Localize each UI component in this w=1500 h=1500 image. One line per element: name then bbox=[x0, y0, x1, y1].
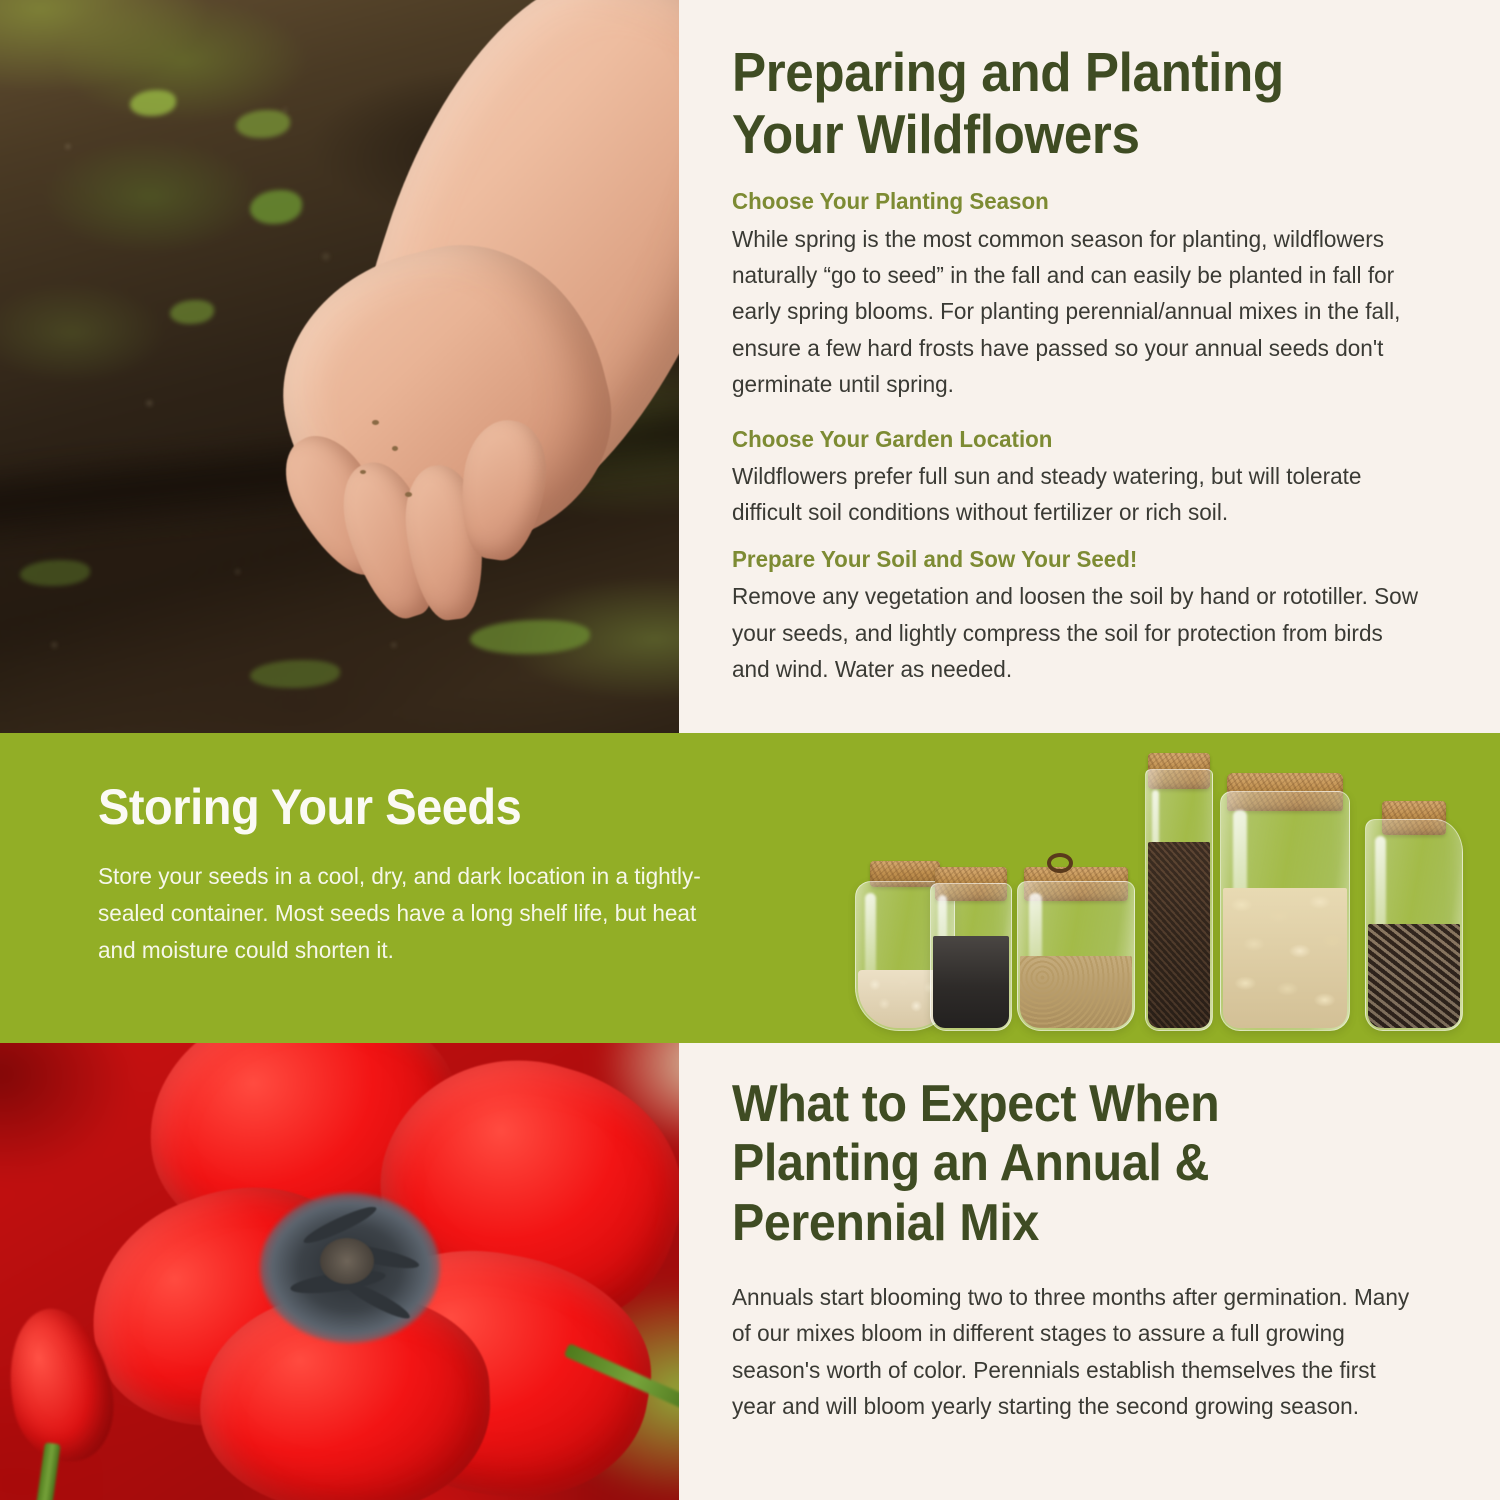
jar-fine-tan-seeds bbox=[1017, 881, 1135, 1031]
subheading-garden-location: Choose Your Garden Location bbox=[732, 425, 1412, 454]
storing-title: Storing Your Seeds bbox=[98, 781, 718, 834]
page-title: Preparing and Planting Your Wildflowers bbox=[732, 42, 1398, 165]
seed-fill-dark-flax bbox=[1148, 842, 1210, 1028]
section-preparing-and-planting: Preparing and Planting Your Wildflowers … bbox=[0, 0, 1500, 733]
storing-paragraph: Store your seeds in a cool, dry, and dar… bbox=[98, 858, 732, 969]
spacer bbox=[732, 531, 1448, 545]
hand-sowing-seeds-in-soil-photo bbox=[0, 0, 679, 733]
jar-sunflower-seeds bbox=[1365, 819, 1463, 1031]
paragraph-garden-location: Wildflowers prefer full sun and steady w… bbox=[732, 458, 1419, 531]
seed-fill-sunflower bbox=[1368, 924, 1460, 1028]
falling-seed bbox=[405, 492, 412, 497]
what-to-expect-paragraph: Annuals start blooming two to three mont… bbox=[732, 1279, 1419, 1425]
storing-text-column: Storing Your Seeds Store your seeds in a… bbox=[98, 781, 758, 969]
paragraph-planting-season: While spring is the most common season f… bbox=[732, 221, 1419, 403]
what-to-expect-title: What to Expect When Planting an Annual &… bbox=[732, 1075, 1398, 1253]
subheading-planting-season: Choose Your Planting Season bbox=[732, 187, 1412, 216]
cork-pull-ring bbox=[1047, 853, 1073, 873]
stamen-disc bbox=[320, 1238, 374, 1284]
what-to-expect-text-column: What to Expect When Planting an Annual &… bbox=[679, 1043, 1500, 1500]
spacer bbox=[732, 403, 1448, 425]
jar-pumpkin-seeds bbox=[1220, 791, 1350, 1031]
glass-jars-of-seeds-photo bbox=[845, 751, 1485, 1043]
falling-seed bbox=[372, 420, 379, 425]
red-poppy-flower-photo bbox=[0, 1043, 679, 1500]
infographic-page: Preparing and Planting Your Wildflowers … bbox=[0, 0, 1500, 1500]
preparing-text-column: Preparing and Planting Your Wildflowers … bbox=[679, 0, 1500, 733]
jar-tall-dark-seeds bbox=[1145, 769, 1213, 1031]
falling-seed bbox=[392, 446, 398, 451]
paragraph-prepare-soil: Remove any vegetation and loosen the soi… bbox=[732, 578, 1419, 687]
section-storing-your-seeds: Storing Your Seeds Store your seeds in a… bbox=[0, 733, 1500, 1043]
section-what-to-expect: What to Expect When Planting an Annual &… bbox=[0, 1043, 1500, 1500]
jar-black-seeds bbox=[930, 883, 1012, 1031]
seed-fill-black bbox=[933, 936, 1009, 1028]
seed-fill-fine-tan bbox=[1020, 956, 1132, 1028]
falling-seed bbox=[360, 470, 366, 474]
seed-fill-pumpkin bbox=[1223, 888, 1347, 1028]
subheading-prepare-soil: Prepare Your Soil and Sow Your Seed! bbox=[732, 545, 1412, 574]
